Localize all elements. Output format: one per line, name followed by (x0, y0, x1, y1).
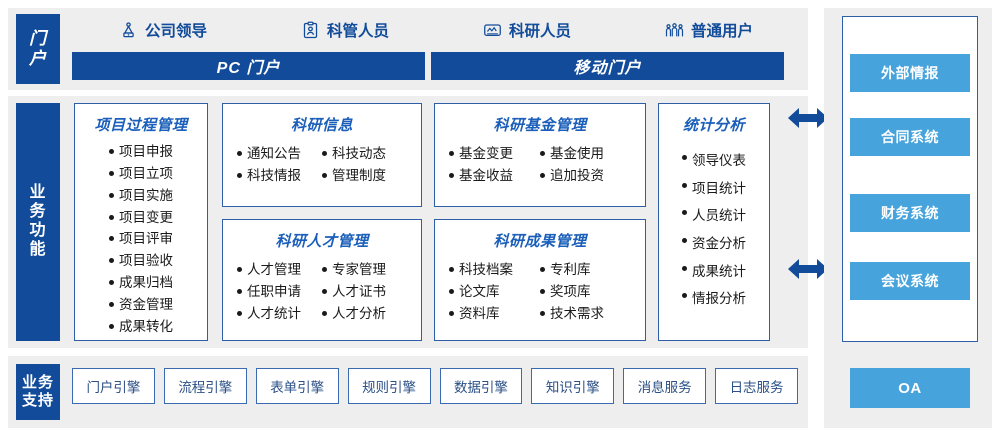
list-item[interactable]: 项目验收 (109, 250, 173, 272)
support-button-process-engine[interactable]: 流程引擎 (164, 368, 247, 404)
business-support-button-row: 门户引擎 流程引擎 表单引擎 规则引擎 数据引擎 知识引擎 消息服务 日志服务 (72, 368, 798, 404)
bullet-icon (682, 183, 687, 188)
bullet-icon (540, 289, 545, 294)
list-item[interactable]: 科技档案 (449, 259, 540, 281)
list-item-label: 专家管理 (332, 259, 386, 281)
list-item-label: 成果归档 (119, 272, 173, 294)
support-button-knowledge-engine[interactable]: 知识引擎 (531, 368, 614, 404)
list-item-label: 领导仪表 (692, 147, 746, 175)
list-item[interactable]: 资金分析 (682, 230, 746, 258)
list-item-label: 资金管理 (119, 294, 173, 316)
bullet-icon (109, 258, 114, 263)
bullet-icon (109, 215, 114, 220)
role-research-admin[interactable]: 科管人员 (254, 19, 436, 41)
list-item[interactable]: 基金变更 (449, 143, 540, 165)
support-button-message-service[interactable]: 消息服务 (623, 368, 706, 404)
role-general-user[interactable]: 普通用户 (618, 19, 800, 41)
external-system-oa[interactable]: OA (850, 368, 970, 408)
bullet-icon (109, 324, 114, 329)
func-tab-char-3: 功 (29, 222, 46, 241)
list-item-label: 技术需求 (550, 303, 604, 325)
role-label: 科管人员 (327, 19, 389, 41)
bullet-icon (682, 210, 687, 215)
support-button-rule-engine[interactable]: 规则引擎 (348, 368, 431, 404)
list-item[interactable]: 通知公告 (237, 143, 322, 165)
list-item-label: 追加投资 (550, 165, 604, 187)
bullet-icon (449, 289, 454, 294)
bullet-icon (109, 171, 114, 176)
func-tab-char-1: 业 (29, 184, 46, 203)
bullet-icon (540, 311, 545, 316)
list-item[interactable]: 项目变更 (109, 207, 173, 229)
bullet-icon (682, 155, 687, 160)
leader-icon (119, 21, 138, 40)
list-item-label: 基金变更 (459, 143, 513, 165)
list-item[interactable]: 资金管理 (109, 294, 173, 316)
bullet-icon (449, 173, 454, 178)
role-label: 公司领导 (145, 19, 207, 41)
list-item-label: 人才统计 (247, 303, 301, 325)
list-item[interactable]: 成果归档 (109, 272, 173, 294)
list-item[interactable]: 项目统计 (682, 175, 746, 203)
card-title: 统计分析 (683, 114, 745, 135)
card-item-list: 人才管理 专家管理 任职申请 人才证书 人才统计 人才分析 (223, 259, 421, 325)
external-system-meeting[interactable]: 会议系统 (850, 262, 970, 300)
card-item-list: 科技档案 专利库 论文库 奖项库 资料库 技术需求 (435, 259, 645, 325)
business-function-cards: 项目过程管理 项目申报 项目立项 项目实施 项目变更 项目评审 项目验收 成果归… (70, 103, 800, 341)
bullet-icon (237, 173, 242, 178)
list-item-label: 项目立项 (119, 163, 173, 185)
card-title: 科研基金管理 (493, 114, 586, 135)
bullet-icon (540, 151, 545, 156)
list-item[interactable]: 成果统计 (682, 258, 746, 286)
clipboard-person-icon (301, 21, 320, 40)
bullet-icon (682, 266, 687, 271)
role-label: 普通用户 (691, 19, 753, 41)
chart-monitor-icon (483, 21, 502, 40)
list-item-label: 通知公告 (247, 143, 301, 165)
list-item-label: 资料库 (459, 303, 500, 325)
func-tab-char-4: 能 (29, 241, 46, 260)
list-item-label: 情报分析 (692, 285, 746, 313)
list-item-label: 项目申报 (119, 141, 173, 163)
card-project-process-management[interactable]: 项目过程管理 项目申报 项目立项 项目实施 项目变更 项目评审 项目验收 成果归… (74, 103, 208, 341)
card-statistical-analysis[interactable]: 统计分析 领导仪表 项目统计 人员统计 资金分析 成果统计 情报分析 (658, 103, 770, 341)
card-title: 科研信息 (291, 114, 353, 135)
list-item-label: 项目实施 (119, 185, 173, 207)
bullet-icon (540, 173, 545, 178)
card-title: 项目过程管理 (94, 114, 187, 135)
business-support-section-tab: 业务 支持 (16, 364, 60, 420)
list-item-label: 项目变更 (119, 207, 173, 229)
card-research-information[interactable]: 科研信息 通知公告 科技动态 科技情报 管理制度 (222, 103, 422, 207)
supp-tab-line-1: 业务 (22, 374, 54, 392)
list-item[interactable]: 专家管理 (322, 259, 407, 281)
portal-role-row: 公司领导 科管人员 科研人员 (72, 14, 800, 46)
role-company-leader[interactable]: 公司领导 (72, 19, 254, 41)
list-item-label: 基金收益 (459, 165, 513, 187)
bullet-icon (237, 311, 242, 316)
bullet-icon (540, 267, 545, 272)
list-item[interactable]: 任职申请 (237, 281, 322, 303)
list-item[interactable]: 技术需求 (540, 303, 631, 325)
external-system-contract[interactable]: 合同系统 (850, 118, 970, 156)
list-item[interactable]: 奖项库 (540, 281, 631, 303)
portal-section-tab: 门 户 (16, 14, 60, 84)
list-item-label: 科技情报 (247, 165, 301, 187)
portal-tab-char-2: 户 (29, 49, 47, 69)
supp-tab-line-2: 支持 (22, 392, 54, 410)
list-item[interactable]: 项目实施 (109, 185, 173, 207)
bullet-icon (322, 311, 327, 316)
list-item[interactable]: 项目立项 (109, 163, 173, 185)
bullet-icon (449, 311, 454, 316)
bullet-icon (322, 289, 327, 294)
list-item[interactable]: 项目评审 (109, 228, 173, 250)
architecture-diagram: 门 户 公司领导 (0, 0, 1000, 436)
list-item[interactable]: 成果转化 (109, 316, 173, 338)
card-research-achievement-management[interactable]: 科研成果管理 科技档案 专利库 论文库 奖项库 资料库 技术需求 (434, 219, 646, 341)
list-item-label: 项目统计 (692, 175, 746, 203)
list-item[interactable]: 科技动态 (322, 143, 407, 165)
card-research-talent-management[interactable]: 科研人才管理 人才管理 专家管理 任职申请 人才证书 人才统计 人才分析 (222, 219, 422, 341)
role-researcher[interactable]: 科研人员 (436, 19, 618, 41)
list-item[interactable]: 情报分析 (682, 285, 746, 313)
list-item-label: 资金分析 (692, 230, 746, 258)
list-item-label: 奖项库 (550, 281, 591, 303)
support-button-data-engine[interactable]: 数据引擎 (440, 368, 523, 404)
list-item-label: 人员统计 (692, 202, 746, 230)
list-item-label: 项目评审 (119, 228, 173, 250)
list-item[interactable]: 论文库 (449, 281, 540, 303)
list-item-label: 人才证书 (332, 281, 386, 303)
external-system-finance[interactable]: 财务系统 (850, 194, 970, 232)
list-item[interactable]: 人才分析 (322, 303, 407, 325)
card-item-list: 基金变更 基金使用 基金收益 追加投资 (435, 143, 645, 187)
list-item-label: 基金使用 (550, 143, 604, 165)
bullet-icon (237, 289, 242, 294)
bullet-icon (109, 193, 114, 198)
group-people-icon (665, 21, 684, 40)
support-button-form-engine[interactable]: 表单引擎 (256, 368, 339, 404)
list-item[interactable]: 人才统计 (237, 303, 322, 325)
bullet-icon (322, 173, 327, 178)
bullet-icon (237, 151, 242, 156)
list-item[interactable]: 专利库 (540, 259, 631, 281)
list-item-label: 成果统计 (692, 258, 746, 286)
list-item[interactable]: 基金收益 (449, 165, 540, 187)
list-item-label: 科技档案 (459, 259, 513, 281)
list-item[interactable]: 人才管理 (237, 259, 322, 281)
card-item-list: 项目申报 项目立项 项目实施 项目变更 项目评审 项目验收 成果归档 资金管理 … (109, 141, 173, 338)
list-item-label: 人才分析 (332, 303, 386, 325)
bullet-icon (322, 151, 327, 156)
list-item-label: 管理制度 (332, 165, 386, 187)
list-item-label: 人才管理 (247, 259, 301, 281)
card-research-fund-management[interactable]: 科研基金管理 基金变更 基金使用 基金收益 追加投资 (434, 103, 646, 207)
list-item[interactable]: 人才证书 (322, 281, 407, 303)
bullet-icon (109, 302, 114, 307)
portal-tab-char-1: 门 (29, 29, 47, 49)
external-system-intelligence[interactable]: 外部情报 (850, 54, 970, 92)
func-tab-char-2: 务 (29, 203, 46, 222)
list-item-label: 专利库 (550, 259, 591, 281)
list-item[interactable]: 领导仪表 (682, 147, 746, 175)
list-item[interactable]: 管理制度 (322, 165, 407, 187)
support-button-log-service[interactable]: 日志服务 (715, 368, 798, 404)
list-item-label: 任职申请 (247, 281, 301, 303)
list-item[interactable]: 人员统计 (682, 202, 746, 230)
bullet-icon (109, 149, 114, 154)
pc-portal-button[interactable]: PC 门户 (72, 52, 425, 80)
business-function-section-tab: 业 务 功 能 (16, 103, 60, 341)
list-item-label: 科技动态 (332, 143, 386, 165)
list-item[interactable]: 资料库 (449, 303, 540, 325)
list-item[interactable]: 项目申报 (109, 141, 173, 163)
bullet-icon (322, 267, 327, 272)
list-item-label: 项目验收 (119, 250, 173, 272)
bullet-icon (682, 293, 687, 298)
role-label: 科研人员 (509, 19, 571, 41)
card-title: 科研人才管理 (275, 230, 368, 251)
portal-button-row: PC 门户 移动门户 (72, 52, 784, 80)
card-item-list: 通知公告 科技动态 科技情报 管理制度 (223, 143, 421, 187)
list-item[interactable]: 基金使用 (540, 143, 631, 165)
list-item-label: 论文库 (459, 281, 500, 303)
card-title: 科研成果管理 (493, 230, 586, 251)
bullet-icon (109, 236, 114, 241)
bullet-icon (449, 267, 454, 272)
bullet-icon (682, 238, 687, 243)
list-item[interactable]: 追加投资 (540, 165, 631, 187)
list-item[interactable]: 科技情报 (237, 165, 322, 187)
bullet-icon (449, 151, 454, 156)
bullet-icon (109, 280, 114, 285)
support-button-portal-engine[interactable]: 门户引擎 (72, 368, 155, 404)
card-item-list: 领导仪表 项目统计 人员统计 资金分析 成果统计 情报分析 (682, 147, 746, 313)
list-item-label: 成果转化 (119, 316, 173, 338)
mobile-portal-button[interactable]: 移动门户 (431, 52, 784, 80)
bullet-icon (237, 267, 242, 272)
